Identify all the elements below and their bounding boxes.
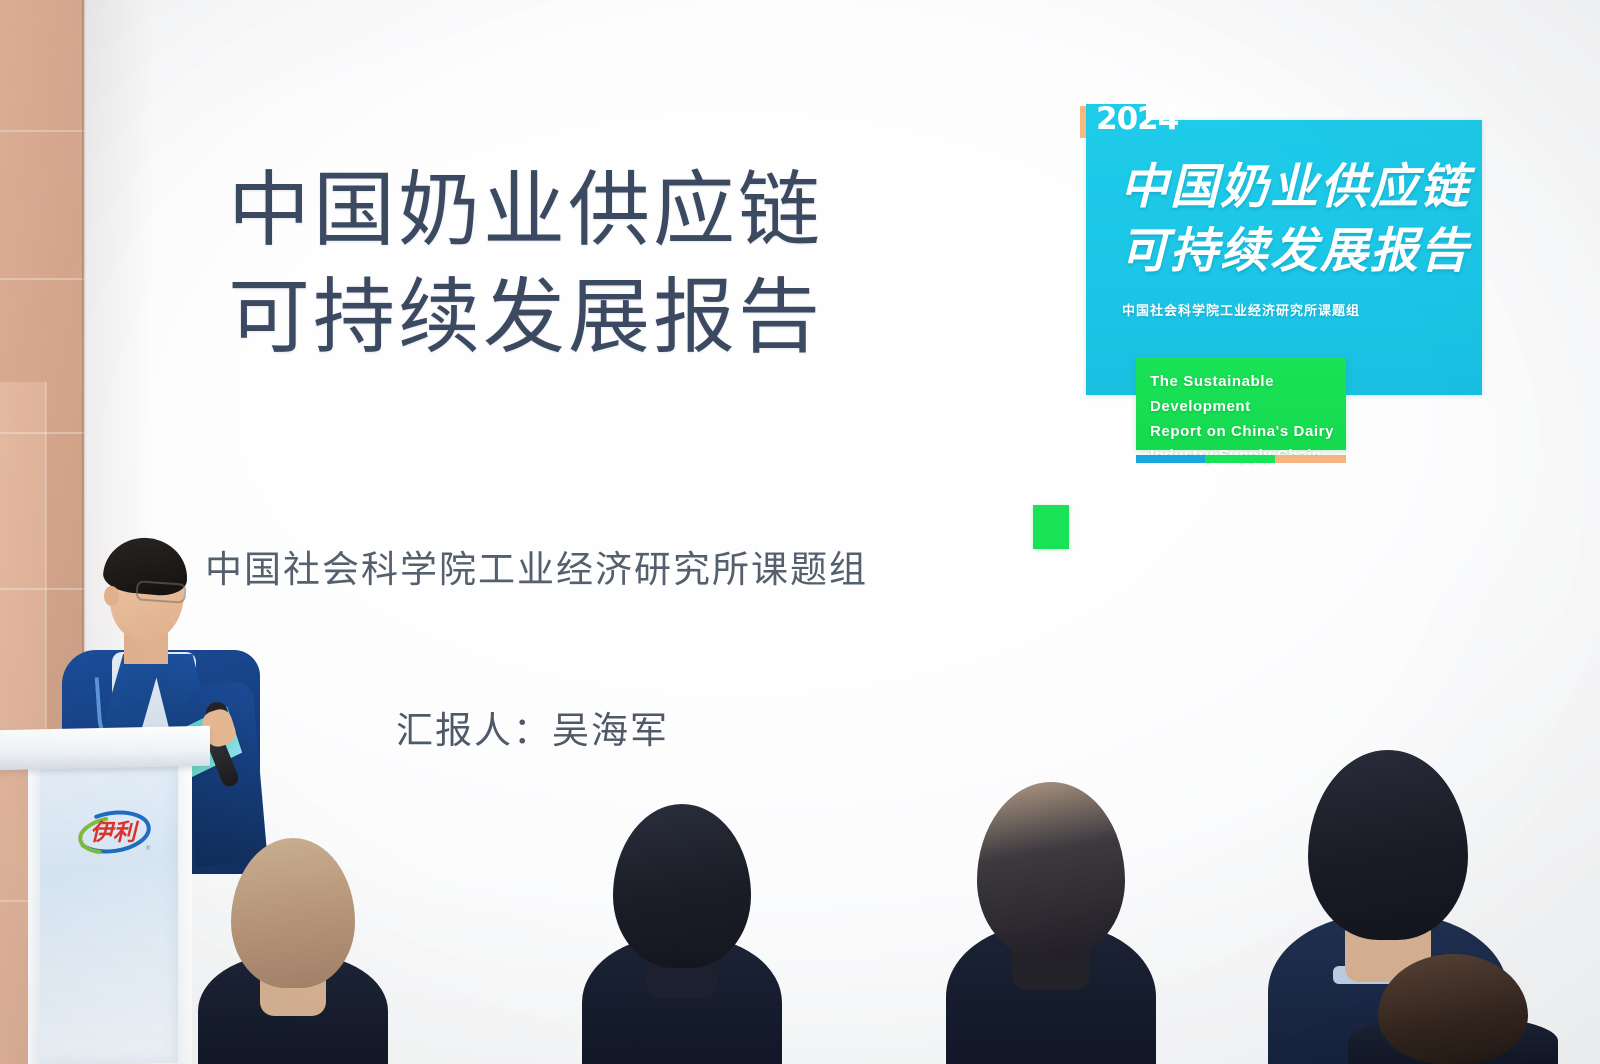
bar-segment-orange — [1275, 455, 1346, 463]
bar-segment-blue — [1136, 455, 1205, 463]
slide-presenter: 汇报人：吴海军 — [396, 700, 669, 754]
podium-edge-left — [28, 760, 40, 1064]
cover-year-tab: 2024 — [1086, 104, 1146, 138]
slide-organization: 中国社会科学院工业经济研究所课题组 — [205, 548, 868, 592]
audience-head — [613, 804, 751, 968]
podium-top-surface — [0, 726, 210, 771]
audience-member — [582, 788, 782, 1064]
svg-text:®: ® — [146, 845, 151, 852]
glasses-icon — [135, 580, 186, 603]
wall-seam — [0, 432, 84, 434]
audience-head — [977, 782, 1125, 958]
presentation-photo: 中国奶业供应链 可持续发展报告 中国社会科学院工业经济研究所课题组 汇报人：吴海… — [0, 0, 1600, 1064]
cover-green-panel: The Sustainable Development Report on Ch… — [1136, 358, 1346, 450]
speaker-ear — [104, 586, 119, 606]
green-accent-square — [1033, 505, 1069, 549]
wall-seam — [0, 130, 84, 132]
report-cover-graphic: 2024 中国奶业供应链 可持续发展报告 中国社会科学院工业经济研究所课题组 T… — [1078, 104, 1478, 474]
audience-member — [1348, 944, 1558, 1064]
cover-byline-chinese: 中国社会科学院工业经济研究所课题组 — [1122, 300, 1360, 319]
cover-color-bar — [1136, 455, 1346, 463]
audience-head — [1308, 750, 1468, 940]
slide-title: 中国奶业供应链 可持续发展报告 — [228, 158, 868, 371]
audience-member — [946, 764, 1156, 1064]
audience-member — [198, 814, 388, 1064]
wall-seam — [0, 278, 84, 280]
cover-year-label: 2024 — [1096, 102, 1178, 136]
audience-head — [231, 838, 355, 988]
audience-head — [1378, 954, 1528, 1064]
svg-text:伊利: 伊利 — [90, 819, 140, 845]
yili-logo: 伊利 ® — [72, 806, 154, 858]
cover-title-chinese: 中国奶业供应链 可持续发展报告 — [1120, 156, 1470, 284]
podium-edge-right — [178, 760, 192, 1064]
bar-segment-green — [1205, 455, 1274, 463]
